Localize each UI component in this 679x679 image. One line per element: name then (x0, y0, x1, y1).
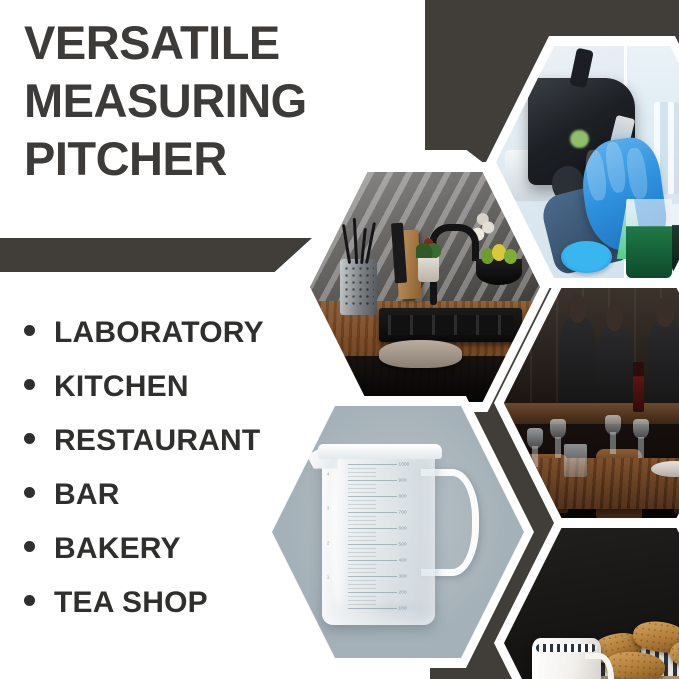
graduation-major-tick (348, 480, 397, 481)
bullet-dot-icon (24, 541, 35, 552)
title-divider-bar (0, 238, 312, 272)
bullet-dot-icon (24, 595, 35, 606)
graduation-label: 500 (399, 542, 407, 547)
graduation-label: 200 (399, 590, 407, 595)
list-item: TEA SHOP (24, 588, 354, 642)
graduation-label: 900 (399, 478, 407, 483)
list-item-label: RESTAURANT (54, 426, 260, 456)
staff-figure (596, 325, 633, 403)
list-item: BAR (24, 480, 354, 534)
title-line-2: MEASURING (24, 72, 424, 130)
title-line-3: PITCHER (24, 130, 424, 188)
use-case-list: LABORATORY KITCHEN RESTAURANT BAR BAKERY… (24, 318, 354, 642)
graduation-major-tick (348, 592, 397, 593)
pitcher-graduations: 10009008007006005004003002001004321 (348, 461, 435, 618)
potted-plant-icon (418, 255, 439, 283)
bullet-dot-icon (24, 487, 35, 498)
wine-bottle-icon (633, 362, 645, 413)
utensils-icon (340, 218, 379, 264)
petri-dish-icon (561, 241, 612, 273)
graduation-major-tick (348, 560, 397, 561)
list-item-label: LABORATORY (54, 318, 264, 348)
list-item-label: BAKERY (54, 534, 181, 564)
fruit-icon (478, 243, 519, 266)
graduation-major-tick (348, 544, 397, 545)
graduation-major-tick (348, 512, 397, 513)
white-pitcher-icon (532, 638, 601, 679)
list-item-label: TEA SHOP (54, 588, 208, 618)
graduation-label: 800 (399, 494, 407, 499)
bullet-dot-icon (24, 379, 35, 390)
green-beaker-icon (626, 199, 672, 278)
graduation-label: 700 (399, 510, 407, 515)
list-item: BAKERY (24, 534, 354, 588)
wine-glass-icon (605, 415, 621, 454)
title-line-1: VERSATILE (24, 14, 424, 72)
graduation-major-tick (348, 464, 397, 465)
wine-glass-icon (633, 419, 649, 458)
graduation-major-tick (348, 496, 397, 497)
graduation-label: 600 (399, 526, 407, 531)
graduation-major-tick (348, 576, 397, 577)
bullet-dot-icon (24, 433, 35, 444)
cooktop-icon (379, 308, 522, 343)
list-item: RESTAURANT (24, 426, 354, 480)
graduation-label: 400 (399, 558, 407, 563)
graduation-label: 300 (399, 574, 407, 579)
staff-figure (647, 320, 679, 407)
graduation-major-tick (348, 608, 397, 609)
bullet-dot-icon (24, 325, 35, 336)
graduation-label: 100 (399, 606, 407, 611)
page-title: VERSATILE MEASURING PITCHER (24, 14, 424, 188)
list-item-label: BAR (54, 480, 120, 510)
list-item: KITCHEN (24, 372, 354, 426)
utensil-holder-icon (340, 259, 377, 314)
infographic-canvas: 10009008007006005004003002001004321 VERS… (0, 0, 679, 679)
graduation-label: 1000 (399, 462, 410, 467)
list-item: LABORATORY (24, 318, 354, 372)
water-tumbler-icon (564, 444, 587, 476)
staff-figure (559, 316, 596, 403)
stone-platter-icon (379, 340, 462, 368)
list-item-label: KITCHEN (54, 372, 189, 402)
graduation-major-tick (348, 528, 397, 529)
